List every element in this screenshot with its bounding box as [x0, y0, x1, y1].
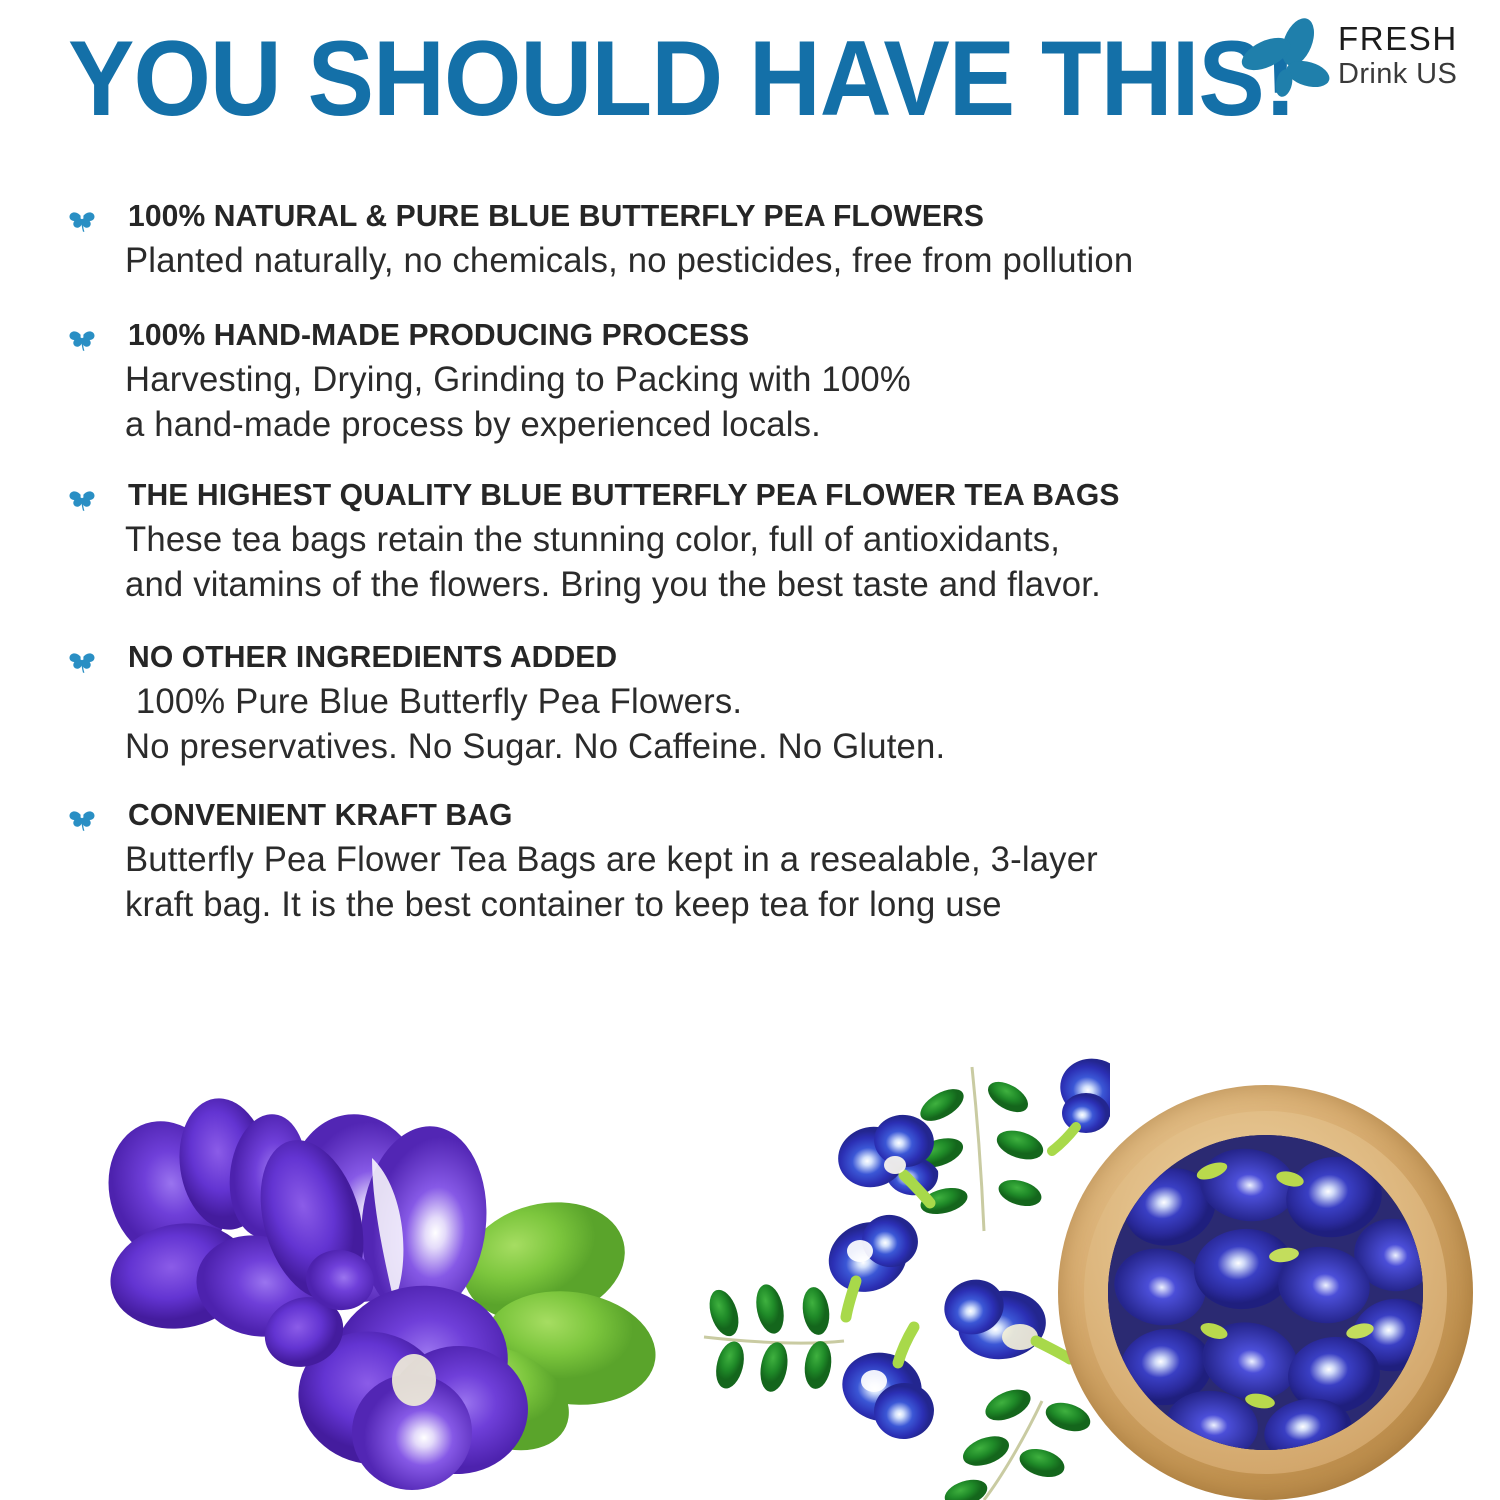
page-title: YOU SHOULD HAVE THIS!: [68, 22, 1296, 134]
feature-body: These tea bags retain the stunning color…: [125, 517, 1447, 607]
single-flower: [818, 1210, 922, 1317]
feature-item: 100% NATURAL & PURE BLUE BUTTERFLY PEA F…: [0, 196, 1460, 283]
feature-heading: NO OTHER INGREDIENTS ADDED: [128, 637, 1420, 677]
flower-cluster-illustration: [72, 1080, 672, 1500]
header: YOU SHOULD HAVE THIS! FRESH Drink US: [0, 0, 1500, 175]
flower-cluster-photo: [72, 1080, 672, 1500]
butterfly-leaf-logo-mark: [1240, 16, 1332, 104]
feature-item: CONVENIENT KRAFT BAG Butterfly Pea Flowe…: [0, 795, 1460, 927]
feature-body-line: These tea bags retain the stunning color…: [125, 517, 1447, 562]
feature-body-line: Planted naturally, no chemicals, no pest…: [125, 238, 1447, 283]
bowl-contents: [1108, 1135, 1423, 1450]
feature-body-line: 100% Pure Blue Butterfly Pea Flowers.: [125, 679, 1447, 724]
feature-body: Planted naturally, no chemicals, no pest…: [125, 238, 1447, 283]
feature-item: 100% HAND-MADE PRODUCING PROCESS Harvest…: [0, 315, 1460, 447]
dried-flowers-in-bowl: [1108, 1135, 1423, 1450]
wooden-bowl-photo: [1058, 1085, 1488, 1500]
feature-heading: CONVENIENT KRAFT BAG: [128, 795, 1420, 835]
feature-heading: THE HIGHEST QUALITY BLUE BUTTERFLY PEA F…: [128, 475, 1420, 515]
brand-logo: FRESH Drink US: [1240, 14, 1472, 106]
feature-body: 100% Pure Blue Butterfly Pea Flowers. No…: [125, 679, 1447, 769]
photo-strip: [0, 1025, 1500, 1500]
leaf-sprig: [704, 1282, 844, 1394]
feature-heading: 100% NATURAL & PURE BLUE BUTTERFLY PEA F…: [128, 196, 1420, 236]
infographic-page: YOU SHOULD HAVE THIS! FRESH Drink US: [0, 0, 1500, 1500]
four-leaf-clover-icon: [66, 481, 98, 513]
scattered-flowers-illustration: [690, 1045, 1110, 1500]
single-flower: [833, 1111, 939, 1203]
feature-body-line: a hand-made process by experienced local…: [125, 402, 1447, 447]
scattered-flowers-photo: [690, 1045, 1110, 1500]
feature-list: 100% NATURAL & PURE BLUE BUTTERFLY PEA F…: [0, 196, 1460, 927]
feature-body-line: Butterfly Pea Flower Tea Bags are kept i…: [125, 837, 1447, 882]
single-flower: [835, 1327, 937, 1442]
feature-body: Butterfly Pea Flower Tea Bags are kept i…: [125, 837, 1447, 927]
feature-body-line: No preservatives. No Sugar. No Caffeine.…: [125, 724, 1447, 769]
feature-heading: 100% HAND-MADE PRODUCING PROCESS: [128, 315, 1420, 355]
feature-item: NO OTHER INGREDIENTS ADDED 100% Pure Blu…: [0, 637, 1460, 769]
feature-body-line: Harvesting, Drying, Grinding to Packing …: [125, 357, 1447, 402]
logo-brand-secondary: Drink US: [1338, 57, 1472, 91]
logo-brand-primary: FRESH: [1338, 20, 1472, 57]
logo-wordmark: FRESH Drink US: [1338, 20, 1472, 91]
feature-body: Harvesting, Drying, Grinding to Packing …: [125, 357, 1447, 447]
feature-body-line: and vitamins of the flowers. Bring you t…: [125, 562, 1447, 607]
four-leaf-clover-icon: [66, 202, 98, 234]
four-leaf-clover-icon: [66, 321, 98, 353]
feature-body-line: kraft bag. It is the best container to k…: [125, 882, 1447, 927]
feature-item: THE HIGHEST QUALITY BLUE BUTTERFLY PEA F…: [0, 475, 1460, 607]
single-flower: [937, 1271, 1070, 1364]
four-leaf-clover-icon: [66, 643, 98, 675]
four-leaf-clover-icon: [66, 801, 98, 833]
